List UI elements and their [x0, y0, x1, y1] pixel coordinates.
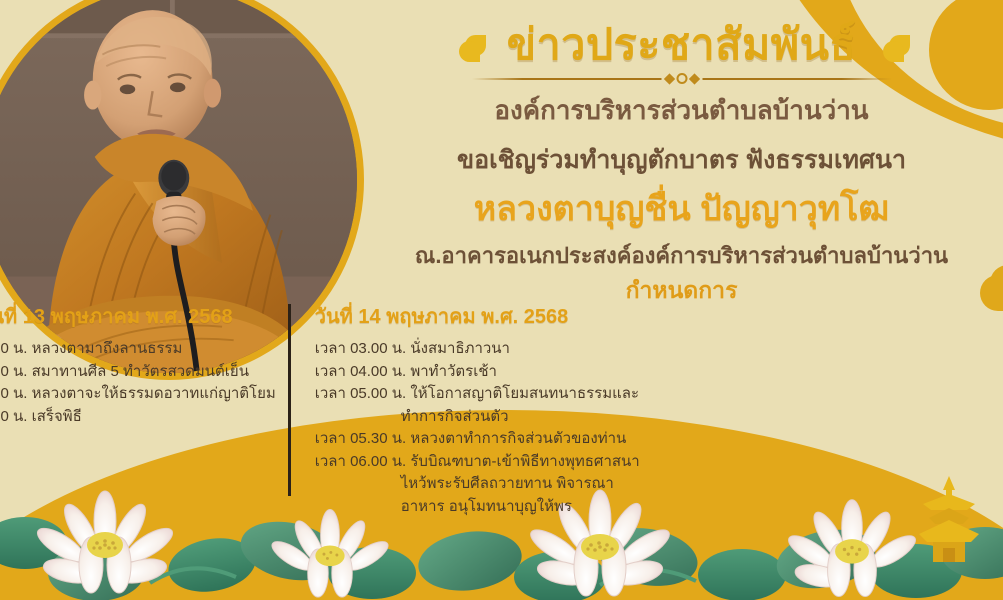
schedule-item-continuation: อาหาร อนุโมทนาบุญให้พร [315, 496, 640, 519]
day-2-heading: วันที่ 14 พฤษภาคม พ.ศ. 2568 [315, 300, 640, 332]
poster-canvas: ข่าวประชาสัมพันธ์ องค์การบริหารส่วนตำบลบ… [0, 0, 1003, 600]
organization-name: องค์การบริหารส่วนตำบลบ้านว่าน [360, 93, 1003, 128]
invitation-text: ขอเชิญร่วมทำบุญตักบาตร ฟังธรรมเทศนา [360, 144, 1003, 178]
schedule-item: เวลา 04.00 น. พาทำวัตรเช้า [315, 361, 640, 384]
monk-name: หลวงตาบุญชื่น ปัญญาวุทโฒ [360, 188, 1003, 231]
venue-text: ณ.อาคารอเนกประสงค์องค์การบริหารส่วนตำบลบ… [360, 241, 1003, 271]
quatrefoil-left-icon [453, 29, 487, 63]
schedule-item: เวลา 05.30 น. หลวงตาทำการกิจส่วนตัวของท่… [315, 428, 640, 451]
day-1-heading: วันที่ 13 พฤษภาคม พ.ศ. 2568 [0, 300, 276, 332]
schedule-item: เวลา 06.00 น. รับบิณฑบาต-เข้าพิธีทางพุทธ… [315, 451, 640, 474]
page-title: ข่าวประชาสัมพันธ์ [507, 22, 857, 69]
title-row: ข่าวประชาสัมพันธ์ [360, 22, 1003, 69]
schedule-item-continuation: ไหว้พระรับศีลถวายทาน พิจารณา [315, 473, 640, 496]
schedule-item: เวลา 18.00 น. สมาทานศีล 5 ทำวัตรสวดมนต์เ… [0, 361, 276, 384]
schedule-item: เวลา 03.00 น. นั่งสมาธิภาวนา [315, 338, 640, 361]
column-divider [288, 304, 291, 496]
schedule-item: เวลา 05.00 น. ให้โอกาสญาติโยมสนทนาธรรมแล… [315, 383, 640, 406]
schedule-item: เวลา 19.30 น. หลวงตาจะให้ธรรมดอวาทแก่ญาต… [0, 383, 276, 406]
schedule-item-continuation: ทำการกิจส่วนตัว [315, 406, 640, 429]
schedule-item: เวลา 20.30 น. เสร็จพิธี [0, 406, 276, 429]
quatrefoil-right-icon [876, 29, 910, 63]
title-divider-ornament [472, 73, 892, 85]
schedule-day-2: วันที่ 14 พฤษภาคม พ.ศ. 2568 เวลา 03.00 น… [297, 300, 646, 518]
schedule-section: วันที่ 13 พฤษภาคม พ.ศ. 2568 เวลา 16.00 น… [0, 300, 643, 518]
schedule-day-1: วันที่ 13 พฤษภาคม พ.ศ. 2568 เวลา 16.00 น… [0, 300, 282, 518]
schedule-item: เวลา 16.00 น. หลวงตามาถึงลานธรรม [0, 338, 276, 361]
